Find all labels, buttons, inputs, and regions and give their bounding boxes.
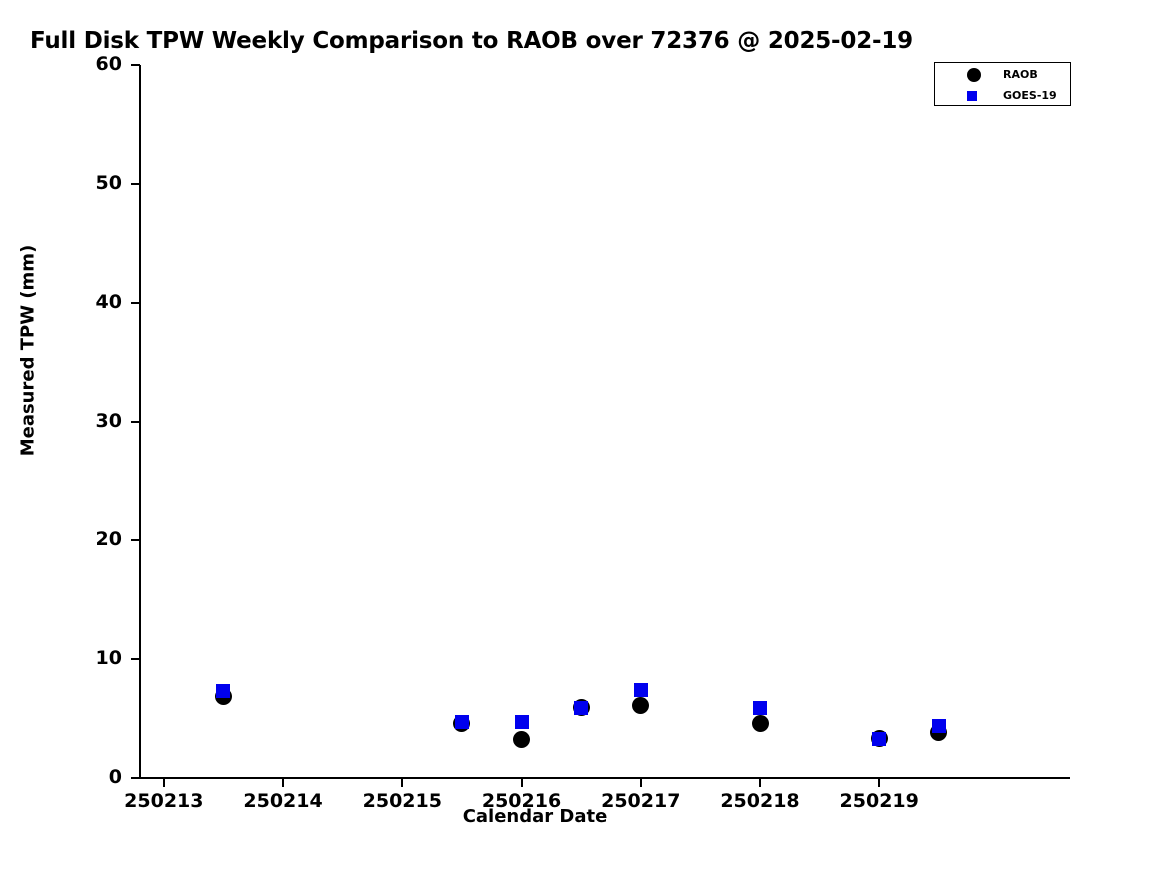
x-tick-mark bbox=[163, 778, 165, 787]
legend-item: RAOB bbox=[935, 64, 1070, 86]
data-point-raob bbox=[632, 697, 649, 714]
y-axis-label: Measured TPW (mm) bbox=[18, 171, 39, 531]
y-tick-mark bbox=[131, 302, 140, 304]
legend-label: GOES-19 bbox=[1003, 89, 1057, 102]
y-tick-mark bbox=[131, 183, 140, 185]
y-tick-label: 40 bbox=[30, 293, 122, 312]
chart-title: Full Disk TPW Weekly Comparison to RAOB … bbox=[30, 28, 913, 54]
chart-legend: RAOBGOES-19 bbox=[934, 62, 1071, 106]
y-tick-label: 10 bbox=[30, 649, 122, 668]
plot-area bbox=[140, 65, 1070, 778]
data-point-goes-19 bbox=[515, 715, 529, 729]
data-point-goes-19 bbox=[574, 701, 588, 715]
y-tick-mark bbox=[131, 777, 140, 779]
x-tick-mark bbox=[401, 778, 403, 787]
data-point-goes-19 bbox=[455, 715, 469, 729]
data-point-goes-19 bbox=[753, 701, 767, 715]
x-tick-mark bbox=[759, 778, 761, 787]
data-point-raob bbox=[752, 715, 769, 732]
legend-label: RAOB bbox=[1003, 68, 1038, 81]
y-tick-label: 60 bbox=[30, 55, 122, 74]
legend-swatch-circle-icon bbox=[967, 68, 981, 82]
legend-item: GOES-19 bbox=[935, 85, 1070, 107]
x-axis-label: Calendar Date bbox=[0, 806, 1070, 827]
y-tick-label: 50 bbox=[30, 174, 122, 193]
data-point-goes-19 bbox=[932, 719, 946, 733]
data-point-goes-19 bbox=[634, 683, 648, 697]
x-tick-mark bbox=[878, 778, 880, 787]
legend-swatch-square-icon bbox=[967, 91, 977, 101]
y-tick-mark bbox=[131, 539, 140, 541]
x-tick-mark bbox=[521, 778, 523, 787]
y-tick-label: 30 bbox=[30, 412, 122, 431]
data-point-goes-19 bbox=[872, 732, 886, 746]
x-tick-mark bbox=[282, 778, 284, 787]
y-tick-mark bbox=[131, 658, 140, 660]
data-point-raob bbox=[513, 731, 530, 748]
y-tick-mark bbox=[131, 421, 140, 423]
y-tick-mark bbox=[131, 64, 140, 66]
y-tick-label: 20 bbox=[30, 530, 122, 549]
data-point-goes-19 bbox=[216, 684, 230, 698]
chart-figure: Full Disk TPW Weekly Comparison to RAOB … bbox=[0, 0, 1167, 875]
y-tick-label: 0 bbox=[30, 768, 122, 787]
x-tick-mark bbox=[640, 778, 642, 787]
